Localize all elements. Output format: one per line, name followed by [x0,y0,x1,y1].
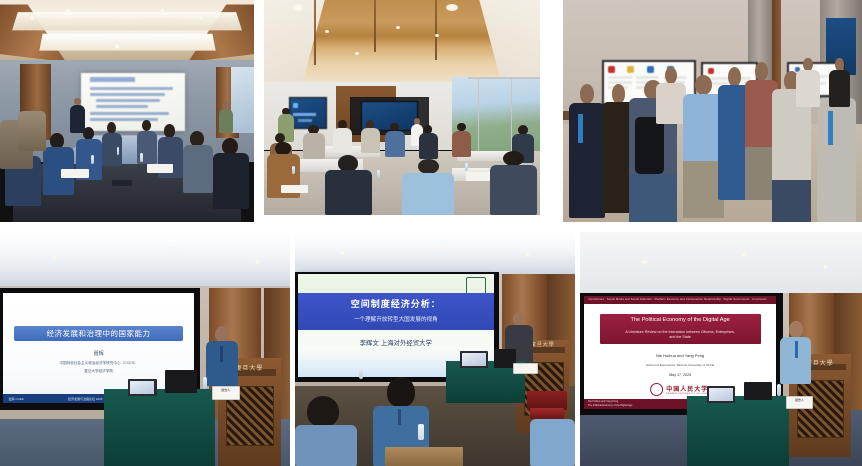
water-bottle [292,166,295,174]
photo-panel-lecture-slide-3: Introduction Social Media and Social Att… [580,232,862,466]
ceiling-trim-inner [39,34,215,51]
photo-panel-boardroom [0,0,254,222]
seated-attendee-foreground [530,419,575,466]
seated-attendee [385,123,404,157]
nameplate [513,363,537,374]
slide-text-line [90,112,169,115]
slide-authors: Nie Huihua and Yang Peng [584,353,776,358]
slide-text-line [96,105,148,108]
seated-attendee [419,125,438,159]
seated-attendee [213,138,249,209]
photo-panel-lecture-slide-1: 经济发展和治理中的国家能力 聂辉 中国特色社会主义政治经济学研究中心（CCES）… [0,232,290,466]
ceiling [295,232,575,274]
slide-footer-authors: Nie Huihua and Yang Peng [588,400,618,403]
slide-title-bar [90,77,136,82]
slide-title: The Political Economy of the Digital Age [584,317,776,323]
slide-date: May 17, 2025 [584,373,776,377]
chair [18,111,46,151]
slide-nav-items: Introduction Social Media and Social Att… [588,298,767,301]
water-bottle [418,424,424,440]
monitor [165,370,197,393]
ceiling [580,232,862,293]
seated-attendee [43,133,73,195]
water-bottle [140,153,143,162]
slide-text-line [90,87,173,90]
ceiling-trim-outer [12,12,241,30]
red-book [530,408,564,420]
photo-panel-seminar-room [264,0,540,215]
water-bottle [465,163,468,171]
laptop [128,379,157,395]
document [147,164,172,173]
university-name-en: RENMIN UNIVERSITY OF CHINA [666,393,710,395]
slide-title: 空间制度经济分析： [298,297,494,310]
slide-subtitle: 一个理解开放转型大国发展的视角 [298,315,494,323]
seated-attendee-foreground [402,159,454,215]
slide-author: 李辉文 上海对外经贸大学 [298,338,494,347]
ceiling-beam [374,0,376,52]
attendee [656,67,686,125]
seated-attendee [303,125,325,159]
water-bottle [203,377,207,389]
window-mullion [468,77,540,79]
downlight-icon [66,9,71,13]
slide-footer-left: 聂辉 CCES [9,397,24,401]
document [61,169,89,178]
document [281,185,309,194]
seated-attendee [102,122,122,166]
slide-footer-center: 经济发展与治理论坛 2025 [68,397,103,401]
monitor [744,382,772,401]
draped-table [687,396,789,466]
photo-panel-poster-hall [563,0,862,222]
seated-attendee-foreground [490,151,537,216]
seated-attendee [452,123,471,157]
standing-attendee [218,102,233,133]
nameplate-text: 报告人 [787,398,812,402]
downlight-icon [174,246,179,250]
water-bottle [117,147,120,155]
photo-collage: 经济发展和治理中的国家能力 聂辉 中国特色社会主义政治经济学研究中心（CCES）… [0,0,862,466]
water-bottle [777,384,781,396]
downlight-icon [198,16,203,20]
university-seal-icon [650,383,663,396]
slide-subtitle: A Literature Review on the Interaction b… [596,330,765,340]
slide-text-line [90,93,165,96]
slide-presenter: 聂辉 [3,350,194,357]
window [231,67,254,134]
seated-attendee [333,120,352,152]
standing-speaker [780,321,811,384]
downlight-icon [741,253,746,257]
photo-panel-lecture-slide-2: 空间制度经济分析： 一个理解开放转型大国发展的视角 李辉文 上海对外经贸大学 復… [295,232,575,466]
laptop [460,351,488,367]
downlight-icon [823,265,828,269]
slide-title: 经济发展和治理中的国家能力 [47,328,151,339]
window-mullion [478,77,480,154]
ceiling [0,232,290,286]
downlight-icon [525,253,530,257]
attendee-background [829,58,850,107]
university-name-cn: 中国人民大学 [666,384,708,393]
downlight-icon [325,30,329,33]
ceiling-beam [435,0,437,60]
microphone-base [112,180,132,187]
downlight-icon [340,251,345,255]
university-logo: 中国人民大学 RENMIN UNIVERSITY OF CHINA [650,383,710,396]
slide-title-bar: 经济发展和治理中的国家能力 [14,326,182,341]
seated-attendee [183,131,213,193]
downlight-icon [160,9,165,13]
slide-text-line [96,99,161,102]
nameplate-text: 报告人 [213,388,239,392]
projection-screen [81,73,185,131]
laptop [707,386,735,402]
slide-footer-title: The Political Economy of the Digital Age [588,404,632,407]
seated-attendee-foreground [295,396,357,466]
desk [385,447,463,466]
attendee [569,84,605,217]
nameplate: 报告人 [212,386,240,400]
water-bottle [359,368,363,379]
attendee-background [796,58,820,107]
ceiling-beam [314,0,316,65]
seated-attendee [361,120,380,152]
document [466,172,491,181]
seated-attendee-foreground [325,155,372,215]
slide-affiliation-1: 中国特色社会主义政治经济学研究中心（CCES） [3,361,194,366]
standing-speaker [206,326,238,387]
draped-table [104,389,214,466]
downlight-icon [441,246,446,250]
downlight-icon [355,52,359,55]
slide-affiliation: School of Economics, Renmin University o… [584,363,776,367]
nameplate: 报告人 [786,396,813,410]
water-bottle [377,170,380,178]
